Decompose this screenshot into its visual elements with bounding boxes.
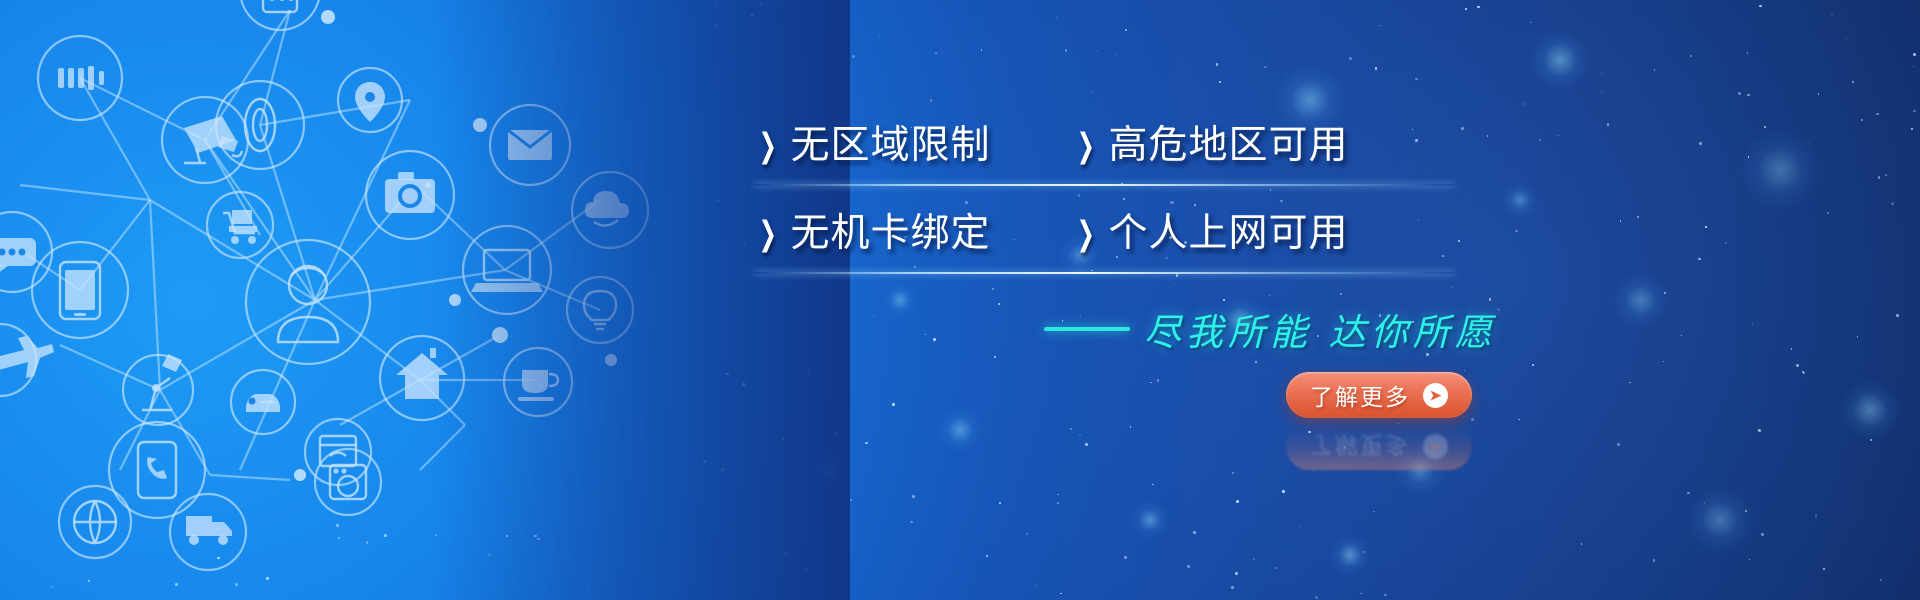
chevron-right-icon: ❯ — [1077, 217, 1095, 250]
feature-row-2: ❯ 无机卡绑定 ❯ 个人上网可用 — [744, 206, 1504, 280]
airplane-icon — [0, 324, 54, 396]
cctv-camera-icon — [162, 97, 248, 183]
coffee-cup-icon — [504, 348, 572, 416]
phone-call-icon — [109, 422, 205, 518]
camera-icon — [366, 151, 454, 239]
globe-icon — [59, 486, 131, 558]
promo-banner: .lnk{stroke:#bfe3ff;stroke-opacity:.55;s… — [0, 0, 1920, 600]
chevron-right-icon: ❯ — [759, 217, 777, 250]
feature-label: 个人上网可用 — [1108, 211, 1348, 257]
tagline: 尽我所能 达你所愿 — [1044, 302, 1497, 356]
iot-network-illustration: .lnk{stroke:#bfe3ff;stroke-opacity:.55;s… — [0, 0, 700, 600]
chat-bubble-icon — [0, 212, 52, 292]
cta-reflection: 了解更多 ➤ — [1286, 424, 1472, 470]
arrow-right-circle-icon-reflection: ➤ — [1423, 435, 1448, 460]
feature-list: ❯ 无区域限制 ❯ 高危地区可用 ❯ 无机卡绑定 ❯ 个人上网可用 — [744, 118, 1504, 280]
feature-label: 无机卡绑定 — [790, 211, 990, 257]
user-profile-icon — [246, 240, 370, 364]
feature-item-no-sim-binding[interactable]: ❯ 无机卡绑定 — [756, 206, 990, 262]
envelope-icon — [490, 105, 570, 185]
feature-item-high-risk-area[interactable]: ❯ 高危地区可用 — [1074, 118, 1348, 174]
feature-item-personal-internet[interactable]: ❯ 个人上网可用 — [1074, 206, 1348, 262]
cta-reflection-label: 了解更多 — [1310, 430, 1410, 464]
truck-icon — [170, 494, 246, 570]
location-pin-icon — [338, 68, 402, 132]
feature-label: 无区域限制 — [790, 123, 990, 169]
chevron-right-icon: ❯ — [1077, 129, 1095, 162]
feature-divider — [754, 272, 1454, 274]
house-icon — [380, 336, 464, 420]
em-dash-rule — [1044, 327, 1130, 331]
feature-label: 高危地区可用 — [1108, 123, 1348, 169]
cloud-upload-icon — [572, 172, 648, 248]
feature-divider — [754, 184, 1454, 186]
car-key-icon — [231, 370, 295, 434]
smartphone-icon — [32, 242, 128, 338]
tagline-text: 尽我所能 达你所愿 — [1144, 302, 1497, 356]
feature-row-1: ❯ 无区域限制 ❯ 高危地区可用 — [744, 118, 1504, 192]
chevron-right-icon: ❯ — [759, 129, 777, 162]
cta-label: 了解更多 — [1310, 378, 1410, 412]
cta-container: 了解更多 ➤ 了解更多 ➤ — [1286, 372, 1472, 418]
battery-icon — [38, 36, 122, 120]
banner-content: ❯ 无区域限制 ❯ 高危地区可用 ❯ 无机卡绑定 ❯ 个人上网可用 — [744, 0, 1920, 600]
learn-more-button[interactable]: 了解更多 ➤ — [1286, 372, 1472, 418]
feature-item-no-region-limit[interactable]: ❯ 无区域限制 — [756, 118, 990, 174]
arrow-right-circle-icon: ➤ — [1423, 383, 1448, 408]
